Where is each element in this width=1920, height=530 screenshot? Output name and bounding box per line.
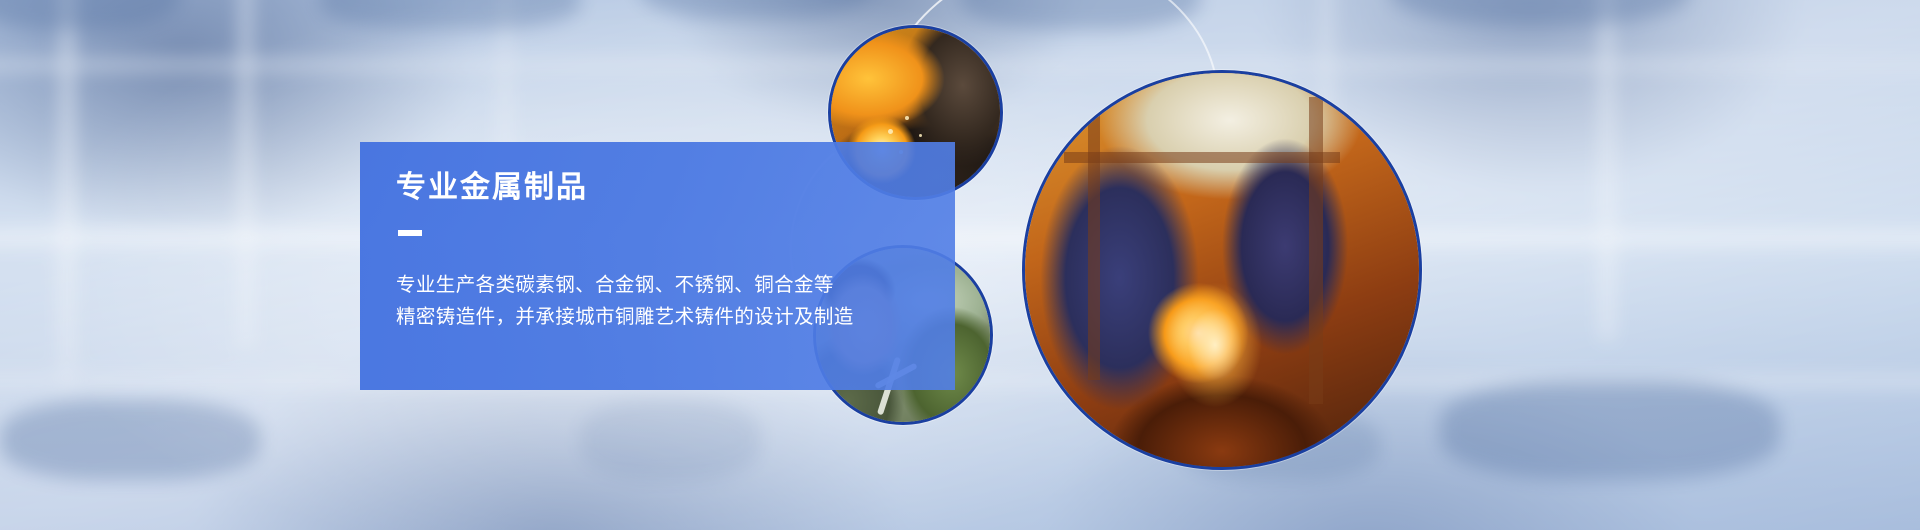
description-line-1: 专业生产各类碳素钢、合金钢、不锈钢、铜合金等 xyxy=(396,270,921,302)
panel-description: 专业生产各类碳素钢、合金钢、不锈钢、铜合金等 精密铸造件，并承接城市铜雕艺术铸件… xyxy=(396,270,921,333)
panel-title: 专业金属制品 xyxy=(396,170,921,206)
hero-banner: 专业金属制品 专业生产各类碳素钢、合金钢、不锈钢、铜合金等 精密铸造件，并承接城… xyxy=(0,0,1920,530)
foundry-pour-photo xyxy=(1022,70,1422,470)
promo-text-panel: 专业金属制品 专业生产各类碳素钢、合金钢、不锈钢、铜合金等 精密铸造件，并承接城… xyxy=(360,142,955,390)
title-divider-dash xyxy=(398,230,422,236)
photo-collage xyxy=(1000,0,1920,530)
description-line-2: 精密铸造件，并承接城市铜雕艺术铸件的设计及制造 xyxy=(396,302,921,334)
